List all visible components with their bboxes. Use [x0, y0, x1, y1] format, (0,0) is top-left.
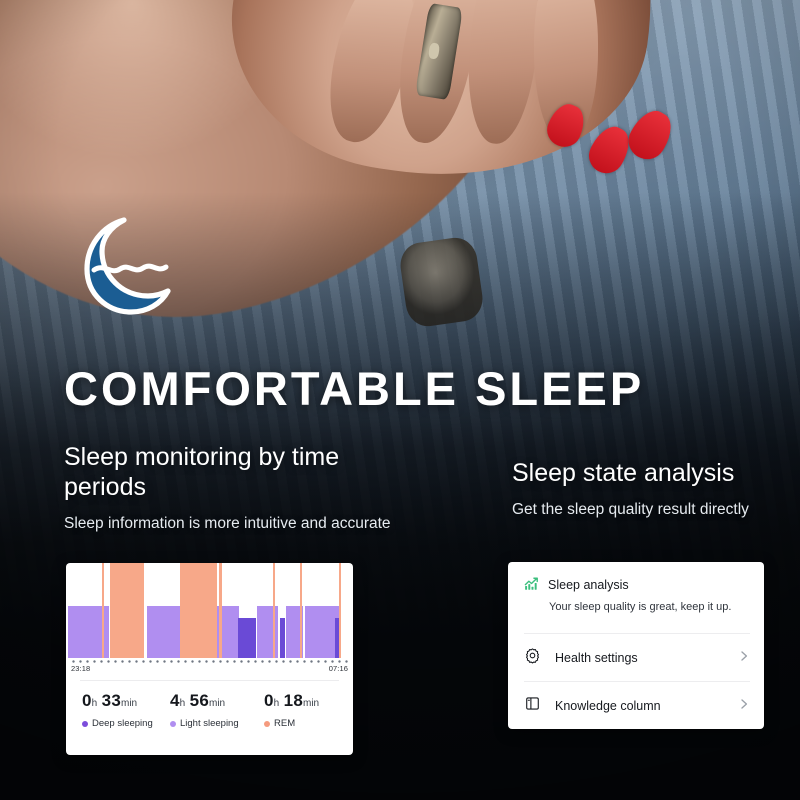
stat-light-sleep: 4h 56min Light sleeping: [170, 691, 239, 729]
sleep-chart-card[interactable]: 23:18 07:16 0h 33min Deep sleeping: [66, 563, 353, 755]
sleep-analysis-card[interactable]: Sleep analysis Your sleep quality is gre…: [508, 562, 764, 729]
crescent-moon-waves-icon: [62, 213, 180, 318]
sleep-stage-chart: [66, 563, 353, 658]
stat-value: 4h 56min: [170, 691, 239, 711]
right-subtitle: Sleep state analysis: [512, 458, 782, 488]
chart-time-axis: 23:18 07:16: [66, 658, 353, 667]
row-health-settings[interactable]: Health settings: [508, 634, 764, 681]
sleep-stage-spike: [339, 571, 340, 658]
analysis-title-row: Sleep analysis: [524, 576, 748, 594]
book-icon: [524, 695, 541, 717]
sleep-stage-bar: [68, 606, 104, 658]
sleep-stage-bar: [238, 618, 256, 658]
trending-bar-chart-icon: [524, 576, 539, 594]
stat-minutes: 18: [284, 691, 303, 710]
row-label: Health settings: [555, 651, 738, 665]
card-divider: [80, 680, 339, 681]
stat-min-unit: min: [121, 698, 137, 709]
stat-deep-sleep: 0h 33min Deep sleeping: [82, 691, 153, 729]
stat-rem: 0h 18min REM: [264, 691, 319, 729]
sleep-stats: 0h 33min Deep sleeping 4h 56min: [66, 691, 353, 755]
chevron-right-icon[interactable]: [738, 649, 750, 667]
row-knowledge-column[interactable]: Knowledge column: [508, 682, 764, 729]
stat-hour-unit: h: [92, 698, 98, 709]
chart-bars: [66, 563, 353, 658]
gear-icon: [524, 647, 541, 669]
sleep-stage-spike: [220, 571, 221, 658]
row-label: Knowledge column: [555, 699, 738, 713]
sleep-stage-spike: [300, 571, 301, 658]
stat-hour-unit: h: [180, 698, 186, 709]
analysis-header: Sleep analysis Your sleep quality is gre…: [508, 562, 764, 613]
chevron-right-icon[interactable]: [738, 697, 750, 715]
analysis-title: Sleep analysis: [548, 578, 629, 592]
sleep-stage-bar: [224, 606, 238, 658]
stat-minutes: 56: [190, 691, 209, 710]
stat-minutes: 33: [102, 691, 121, 710]
sleep-stage-bar: [110, 563, 144, 658]
left-column: Sleep monitoring by time periods Sleep i…: [64, 442, 394, 534]
stat-hour-unit: h: [274, 698, 280, 709]
page-title: COMFORTABLE SLEEP: [64, 365, 644, 412]
stat-min-unit: min: [209, 698, 225, 709]
sleep-promo-page: COMFORTABLE SLEEP Sleep monitoring by ti…: [0, 0, 800, 800]
sleep-stage-bar: [147, 606, 180, 658]
stat-legend: Light sleeping: [170, 718, 239, 729]
legend-dot-deep: [82, 721, 88, 727]
stat-hours: 0: [82, 691, 92, 710]
stat-hours: 0: [264, 691, 274, 710]
stat-min-unit: min: [303, 698, 319, 709]
legend-dot-light: [170, 721, 176, 727]
stat-legend: REM: [264, 718, 319, 729]
sleep-stage-bar: [257, 606, 278, 658]
right-column: Sleep state analysis Get the sleep quali…: [512, 458, 782, 520]
left-subtitle: Sleep monitoring by time periods: [64, 442, 394, 502]
stat-label: Deep sleeping: [92, 718, 153, 729]
legend-dot-rem: [264, 721, 270, 727]
sleep-stage-bar: [104, 606, 109, 658]
left-description: Sleep information is more intuitive and …: [64, 514, 394, 534]
stat-legend: Deep sleeping: [82, 718, 153, 729]
stat-label: Light sleeping: [180, 718, 239, 729]
axis-start-time: 23:18: [71, 664, 90, 673]
stat-value: 0h 18min: [264, 691, 319, 711]
analysis-body: Your sleep quality is great, keep it up.: [549, 601, 748, 613]
sleep-stage-spike: [273, 571, 274, 658]
sleep-stage-bar: [280, 618, 286, 658]
axis-dotted-line: [70, 660, 349, 663]
stat-label: REM: [274, 718, 295, 729]
sleep-stage-bar: [180, 563, 216, 658]
stat-hours: 4: [170, 691, 180, 710]
right-description: Get the sleep quality result directly: [512, 500, 782, 520]
stat-value: 0h 33min: [82, 691, 153, 711]
axis-end-time: 07:16: [329, 664, 348, 673]
